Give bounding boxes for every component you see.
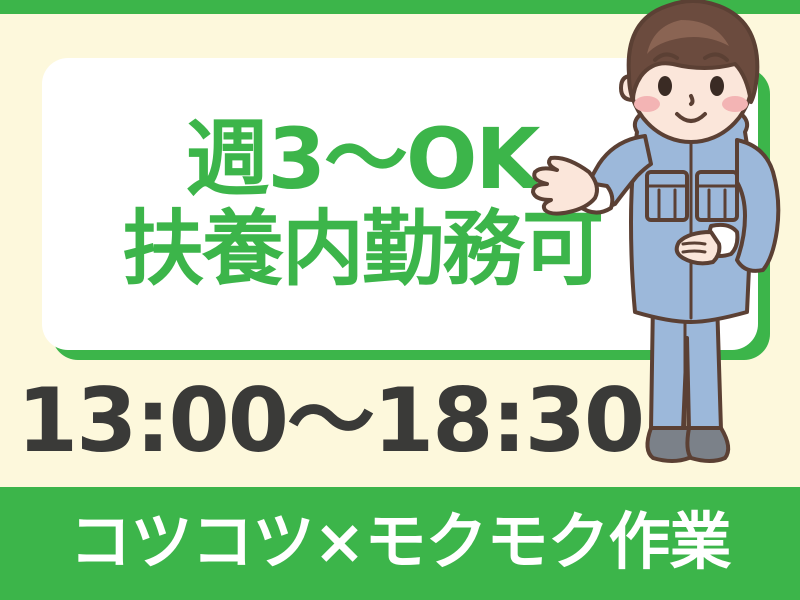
resting-hand bbox=[677, 232, 720, 263]
worker-illustration-svg bbox=[505, 0, 800, 500]
open-hand bbox=[533, 158, 597, 214]
left-eye bbox=[658, 76, 672, 96]
right-chest-pocket bbox=[697, 172, 737, 220]
right-cheek bbox=[722, 96, 748, 112]
nose bbox=[691, 96, 693, 104]
right-shoe bbox=[687, 428, 728, 461]
left-chest-pocket bbox=[647, 172, 687, 220]
headline-line-1: 週3〜OK bbox=[186, 116, 539, 203]
job-ad-banner: 週3〜OK 扶養内勤務可 13:00〜18:30 コツコツ×モクモク作業 bbox=[0, 0, 800, 600]
worker-illustration bbox=[505, 0, 800, 500]
right-eye bbox=[710, 76, 724, 96]
bottom-green-bar: コツコツ×モクモク作業 bbox=[0, 487, 800, 600]
bottom-bar-tagline: コツコツ×モクモク作業 bbox=[0, 487, 800, 600]
lowered-arm bbox=[737, 140, 778, 271]
left-cheek bbox=[634, 96, 660, 112]
